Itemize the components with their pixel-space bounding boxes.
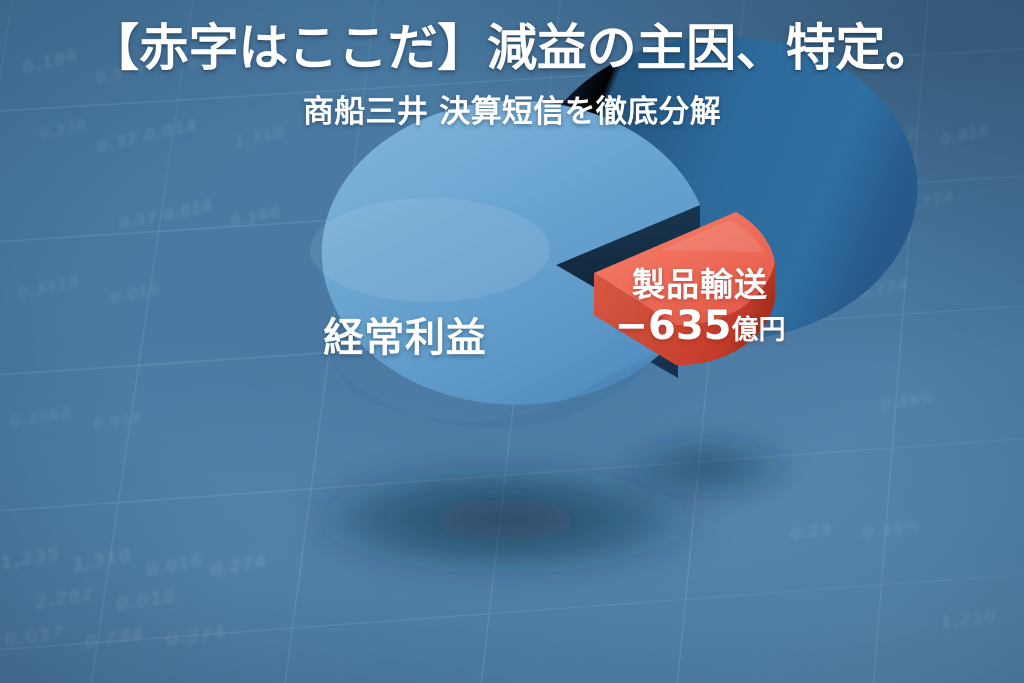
poster-canvas: 0.1860.38160.7741,3100.0120,0160.37 0.01…	[0, 0, 1024, 683]
pie-ground-shadow	[290, 430, 801, 578]
title-block: 【赤字はここだ】減益の主因、特定。 商船三井 決算短信を徹底分解	[0, 20, 1024, 131]
page-subtitle: 商船三井 決算短信を徹底分解	[0, 86, 1024, 131]
page-title: 【赤字はここだ】減益の主因、特定。	[0, 20, 1024, 76]
